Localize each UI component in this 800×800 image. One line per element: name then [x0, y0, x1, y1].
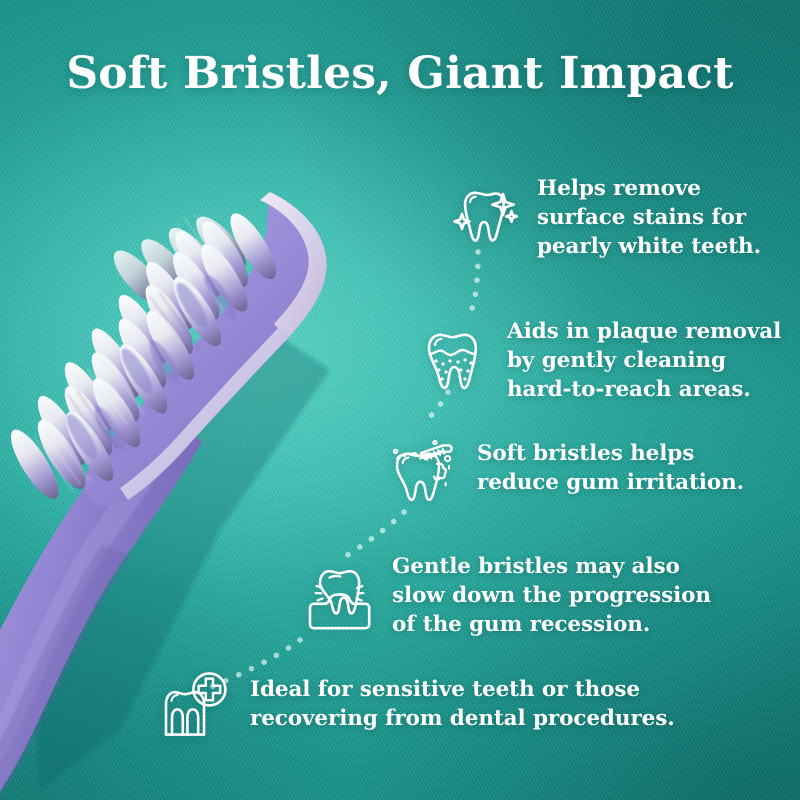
feature-text-sensitive-teeth: Ideal for sensitive teeth or those recov… [250, 676, 675, 734]
feature-text-plaque: Aids in plaque removal by gently cleanin… [507, 318, 781, 404]
feature-text-whitening: Helps remove surface stains for pearly w… [537, 175, 761, 261]
tooth-gum-sensitivity-icon [300, 559, 374, 633]
tooth-plaque-icon [415, 324, 489, 398]
feature-row-gum-irritation: Soft bristles helps reduce gum irritatio… [385, 432, 744, 506]
feature-text-gum-recession: Gentle bristles may also slow down the p… [392, 553, 711, 639]
tooth-sparkle-icon [445, 181, 519, 255]
infographic-poster: Soft Bristles, Giant Impact [0, 0, 800, 800]
page-title: Soft Bristles, Giant Impact [0, 48, 800, 99]
tooth-brushing-icon [385, 432, 459, 506]
feature-row-gum-recession: Gentle bristles may also slow down the p… [300, 553, 711, 639]
tooth-medical-cross-icon [158, 668, 232, 742]
feature-text-gum-irritation: Soft bristles helps reduce gum irritatio… [477, 440, 744, 498]
feature-row-whitening: Helps remove surface stains for pearly w… [445, 175, 761, 261]
feature-row-sensitive-teeth: Ideal for sensitive teeth or those recov… [158, 668, 675, 742]
feature-row-plaque: Aids in plaque removal by gently cleanin… [415, 318, 781, 404]
